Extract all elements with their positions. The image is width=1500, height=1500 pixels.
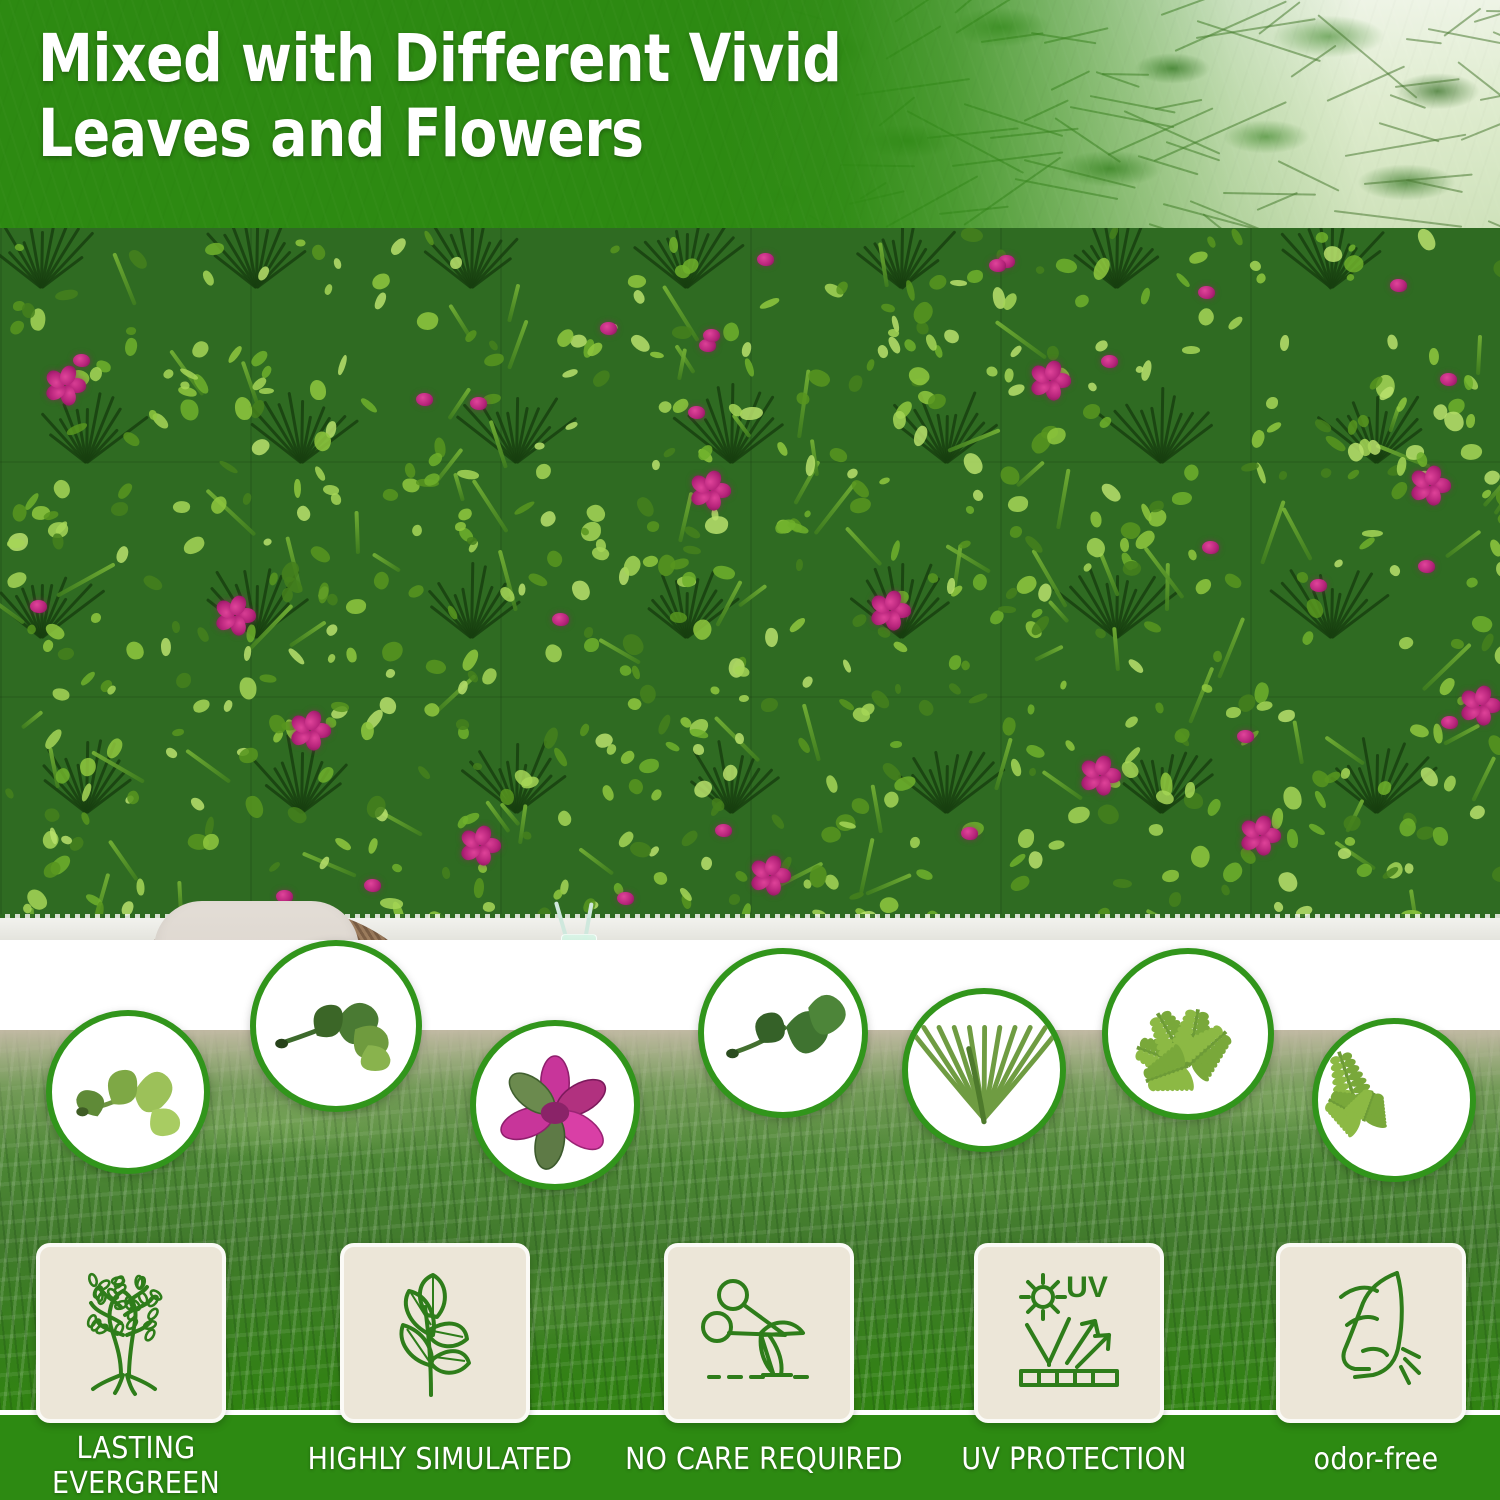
callout-art [256, 946, 416, 1106]
tree-icon [71, 1263, 191, 1403]
callout-leaf-sprig-pink[interactable] [470, 1020, 640, 1190]
callout-art [476, 1026, 634, 1184]
uv-shield-icon: UV [1009, 1263, 1129, 1403]
hero-photo [0, 228, 1500, 940]
callout-fern-frond[interactable] [1312, 1018, 1476, 1182]
callout-art [908, 994, 1060, 1146]
callout-grass-blade-tuft[interactable] [902, 988, 1066, 1152]
feature-card-nose-face-icon[interactable] [1276, 1243, 1466, 1423]
glass-body [561, 934, 597, 940]
callout-leaf-sprig-dark-green[interactable] [250, 940, 422, 1112]
rattan-lounge-chair [98, 883, 458, 940]
feature-card-uv-shield-icon[interactable]: UV [974, 1243, 1164, 1423]
callout-art [52, 1016, 204, 1168]
feature-card-scissors-icon[interactable] [664, 1243, 854, 1423]
callout-fern-cluster[interactable] [1102, 948, 1274, 1120]
leaf-icon [375, 1263, 495, 1403]
product-infographic: Mixed with Different Vivid Leaves and Fl… [0, 0, 1500, 1500]
feature-label-2: NO CARE REQUIRED [614, 1443, 914, 1478]
chair-back-cushion [154, 901, 359, 940]
nose-face-icon [1311, 1263, 1431, 1403]
feature-card-leaf-icon[interactable] [340, 1243, 530, 1423]
callout-art [1318, 1024, 1470, 1176]
feature-card-tree-icon[interactable] [36, 1243, 226, 1423]
callout-art [704, 954, 862, 1112]
callout-art [1108, 954, 1268, 1114]
feature-label-3: UV PROTECTION [924, 1443, 1224, 1478]
header-banner: Mixed with Different Vivid Leaves and Fl… [0, 0, 1500, 228]
callout-leaf-sprig-light-green[interactable] [46, 1010, 210, 1174]
feature-label-4: odor-free [1226, 1443, 1500, 1478]
scissors-icon [699, 1263, 819, 1403]
feature-label-0: LASTINGEVERGREEN [0, 1432, 286, 1500]
svg-text:UV: UV [1066, 1271, 1108, 1304]
mint-drink-glass [556, 900, 600, 940]
callout-ivy-leaf-sprig[interactable] [698, 948, 868, 1118]
page-title: Mixed with Different Vivid Leaves and Fl… [38, 22, 912, 171]
feature-label-1: HIGHLY SIMULATED [290, 1443, 590, 1478]
